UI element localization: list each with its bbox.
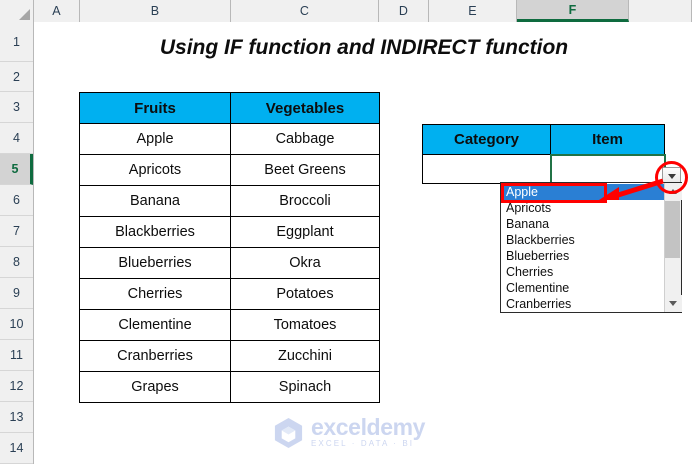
table-header-row: Category Item xyxy=(423,125,665,155)
column-header-c[interactable]: C xyxy=(231,0,379,22)
select-all-triangle-icon xyxy=(19,9,30,20)
row-header-2[interactable]: 2 xyxy=(0,62,33,92)
column-header-b[interactable]: B xyxy=(80,0,231,22)
dropdown-option-banana[interactable]: Banana xyxy=(502,216,664,232)
cell-vegetable[interactable]: Eggplant xyxy=(231,217,380,248)
cell-vegetable[interactable]: Tomatoes xyxy=(231,310,380,341)
row-header-1[interactable]: 1 xyxy=(0,22,33,62)
row-header-3[interactable]: 3 xyxy=(0,92,33,123)
column-header-item: Item xyxy=(551,125,665,155)
column-header-a[interactable]: A xyxy=(34,0,80,22)
table-row: Banana Broccoli xyxy=(80,186,380,217)
row-header-8[interactable]: 8 xyxy=(0,247,33,278)
scrollbar-thumb[interactable] xyxy=(665,201,680,258)
column-header-row: A B C D E F xyxy=(0,0,692,22)
cell-vegetable[interactable]: Beet Greens xyxy=(231,155,380,186)
annotation-rectangle-apple-option xyxy=(501,183,607,203)
cell-fruit[interactable]: Apple xyxy=(80,124,231,155)
dropdown-option-blueberries[interactable]: Blueberries xyxy=(502,248,664,264)
table-row: Apricots Beet Greens xyxy=(80,155,380,186)
row-header-14[interactable]: 14 xyxy=(0,433,33,464)
cell-fruit[interactable]: Cranberries xyxy=(80,341,231,372)
table-row: Apple Cabbage xyxy=(80,124,380,155)
column-header-vegetables: Vegetables xyxy=(231,93,380,124)
column-header-d[interactable]: D xyxy=(379,0,429,22)
row-header-4[interactable]: 4 xyxy=(0,123,33,154)
brand-name: exceldemy xyxy=(311,416,425,439)
column-header-e[interactable]: E xyxy=(429,0,517,22)
cell-vegetable[interactable]: Zucchini xyxy=(231,341,380,372)
logo-text-block: exceldemy EXCEL · DATA · BI xyxy=(311,416,425,448)
cell-vegetable[interactable]: Cabbage xyxy=(231,124,380,155)
cell-fruit[interactable]: Blueberries xyxy=(80,248,231,279)
dropdown-option-clementine[interactable]: Clementine xyxy=(502,280,664,296)
cell-fruit[interactable]: Banana xyxy=(80,186,231,217)
cell-vegetable[interactable]: Broccoli xyxy=(231,186,380,217)
row-header-5[interactable]: 5 xyxy=(0,154,33,185)
cell-category-value[interactable] xyxy=(423,155,551,184)
table-row: Blackberries Eggplant xyxy=(80,217,380,248)
row-header-9[interactable]: 9 xyxy=(0,278,33,309)
table-row: Cranberries Zucchini xyxy=(80,341,380,372)
chevron-down-icon xyxy=(669,301,677,306)
cell-fruit[interactable]: Apricots xyxy=(80,155,231,186)
column-header-fruits: Fruits xyxy=(80,93,231,124)
table-row: Clementine Tomatoes xyxy=(80,310,380,341)
cube-logo-icon xyxy=(272,416,305,449)
cell-fruit[interactable]: Cherries xyxy=(80,279,231,310)
row-header-10[interactable]: 10 xyxy=(0,309,33,340)
fruits-vegetables-table: Fruits Vegetables Apple Cabbage Apricots… xyxy=(79,92,380,403)
cell-vegetable[interactable]: Potatoes xyxy=(231,279,380,310)
cell-vegetable[interactable]: Spinach xyxy=(231,372,380,403)
row-header-12[interactable]: 12 xyxy=(0,371,33,402)
cell-fruit[interactable]: Clementine xyxy=(80,310,231,341)
row-header-6[interactable]: 6 xyxy=(0,185,33,216)
table-row: Cherries Potatoes xyxy=(80,279,380,310)
cell-vegetable[interactable]: Okra xyxy=(231,248,380,279)
table-row: Grapes Spinach xyxy=(80,372,380,403)
category-item-table: Category Item xyxy=(422,124,666,185)
exceldemy-watermark-logo: exceldemy EXCEL · DATA · BI xyxy=(272,414,422,450)
row-header-13[interactable]: 13 xyxy=(0,402,33,433)
scroll-down-button[interactable] xyxy=(665,295,682,312)
row-header-11[interactable]: 11 xyxy=(0,340,33,371)
table-header-row: Fruits Vegetables xyxy=(80,93,380,124)
annotation-arrow xyxy=(595,178,665,202)
dropdown-option-cherries[interactable]: Cherries xyxy=(502,264,664,280)
dropdown-option-cranberries[interactable]: Cranberries xyxy=(502,296,664,312)
row-header-column: 1 2 3 4 5 6 7 8 9 10 11 12 13 14 xyxy=(0,22,34,464)
column-header-f[interactable]: F xyxy=(517,0,629,22)
page-title: Using IF function and INDIRECT function xyxy=(79,28,649,68)
column-header-category: Category xyxy=(423,125,551,155)
table-row: Blueberries Okra xyxy=(80,248,380,279)
select-all-corner[interactable] xyxy=(0,0,34,22)
dropdown-option-blackberries[interactable]: Blackberries xyxy=(502,232,664,248)
cell-fruit[interactable]: Blackberries xyxy=(80,217,231,248)
column-header-g[interactable] xyxy=(629,0,692,22)
excel-worksheet: A B C D E F 1 2 3 4 5 6 7 8 9 10 11 12 1… xyxy=(0,0,692,466)
cell-fruit[interactable]: Grapes xyxy=(80,372,231,403)
row-header-7[interactable]: 7 xyxy=(0,216,33,247)
brand-tagline: EXCEL · DATA · BI xyxy=(311,440,425,448)
